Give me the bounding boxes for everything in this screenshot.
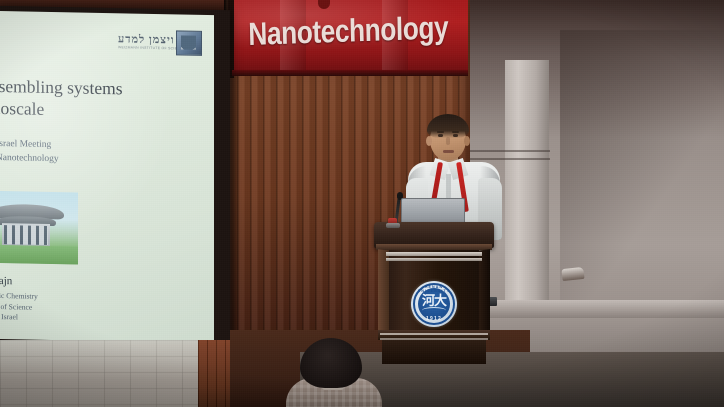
photo-building-columns <box>4 225 48 245</box>
projection-screen: מכון ויצמן למדע WEIZMANN INSTITUTE OF SC… <box>0 11 214 343</box>
presenter-mouth <box>443 150 454 153</box>
microphone-base <box>386 223 400 228</box>
podium-trim-stripe-1 <box>386 252 482 256</box>
apple-logo-icon <box>428 208 437 218</box>
presenter-ear-right <box>464 136 470 146</box>
presenter-ear-left <box>426 136 432 146</box>
presenter-eye-right <box>453 134 458 137</box>
presenter-eye-left <box>438 134 443 137</box>
ledge-object <box>561 267 584 281</box>
slide-subtitle: na-Israel Meeting nd Nanotechnology <box>0 137 214 169</box>
slide-title: assembling systems anoscale <box>0 75 214 123</box>
banner-title-text: Nanotechnology <box>248 9 449 53</box>
nanotechnology-banner: Nanotechnology <box>232 0 468 74</box>
podium-foot <box>382 340 486 364</box>
podium-base-trim-1 <box>380 333 488 335</box>
presenter-nose <box>446 137 450 145</box>
emblem-founding-year: 1912 <box>411 316 457 322</box>
presenter-hair <box>427 114 469 138</box>
affiliation-line2: stitute of Science <box>0 301 32 311</box>
affiliation-line1: Organic Chemistry <box>0 291 38 301</box>
conference-photo-scene: Nanotechnology מכון ויצמן למדע WEIZMANN … <box>0 0 724 407</box>
photo-lawn <box>0 245 78 265</box>
slide-campus-photo <box>0 191 78 265</box>
wall-shadow-patch <box>560 30 724 320</box>
slide-subtitle-line2: nd Nanotechnology <box>0 153 59 164</box>
presenter-brow-left <box>437 131 444 133</box>
presenter-brow-right <box>452 131 459 133</box>
slide-affiliation: Organic Chemistry stitute of Science hov… <box>0 291 38 324</box>
slide-subtitle-line1: na-Israel Meeting <box>0 139 51 150</box>
slide-title-line2: anoscale <box>0 97 214 123</box>
slide-title-line1: assembling systems <box>0 76 123 99</box>
institute-logo: מכון ויצמן למדע WEIZMANN INSTITUTE OF SC… <box>118 29 202 57</box>
henan-university-emblem: HENAN UNIVERSITY 河大 1912 <box>411 281 457 327</box>
slide-presenter-name: l Klajn <box>0 275 12 288</box>
presentation-slide: מכון ויצמן למדע WEIZMANN INSTITUTE OF SC… <box>0 11 214 343</box>
institute-logo-mark-icon <box>176 30 202 55</box>
emblem-wave-motif <box>422 307 446 314</box>
podium-trim-stripe-2 <box>386 258 482 261</box>
banner-bottom-edge <box>232 70 468 76</box>
affiliation-line3: hovot, Israel <box>0 312 18 322</box>
